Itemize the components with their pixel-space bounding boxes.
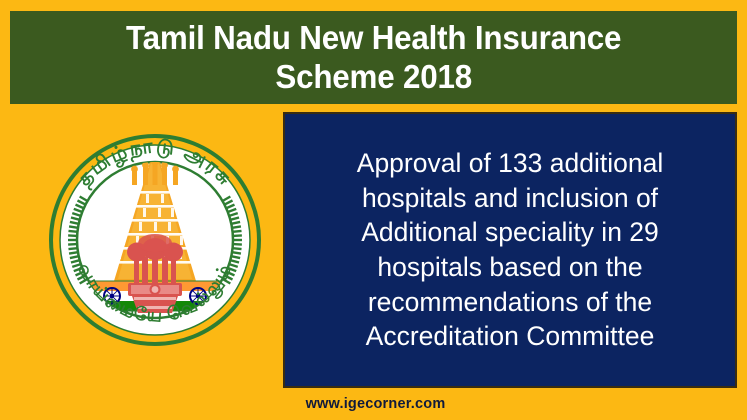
emblem-graphic: தமிழ்நாடு அரசு வாய்மையே வெல்லும் [46,131,264,349]
announcement-text: Approval of 133 additional hospitals and… [343,146,677,354]
poster-root: Tamil Nadu New Health Insurance Scheme 2… [0,0,747,420]
header-banner: Tamil Nadu New Health Insurance Scheme 2… [10,11,737,104]
page-title: Tamil Nadu New Health Insurance Scheme 2… [120,19,627,97]
tamil-nadu-emblem: தமிழ்நாடு அரசு வாய்மையே வெல்லும் [46,131,264,349]
source-url[interactable]: www.igecorner.com [2,396,747,412]
footer-bar: www.igecorner.com [0,388,747,420]
lion-capital-icon [127,234,183,313]
announcement-box: Approval of 133 additional hospitals and… [283,112,737,388]
